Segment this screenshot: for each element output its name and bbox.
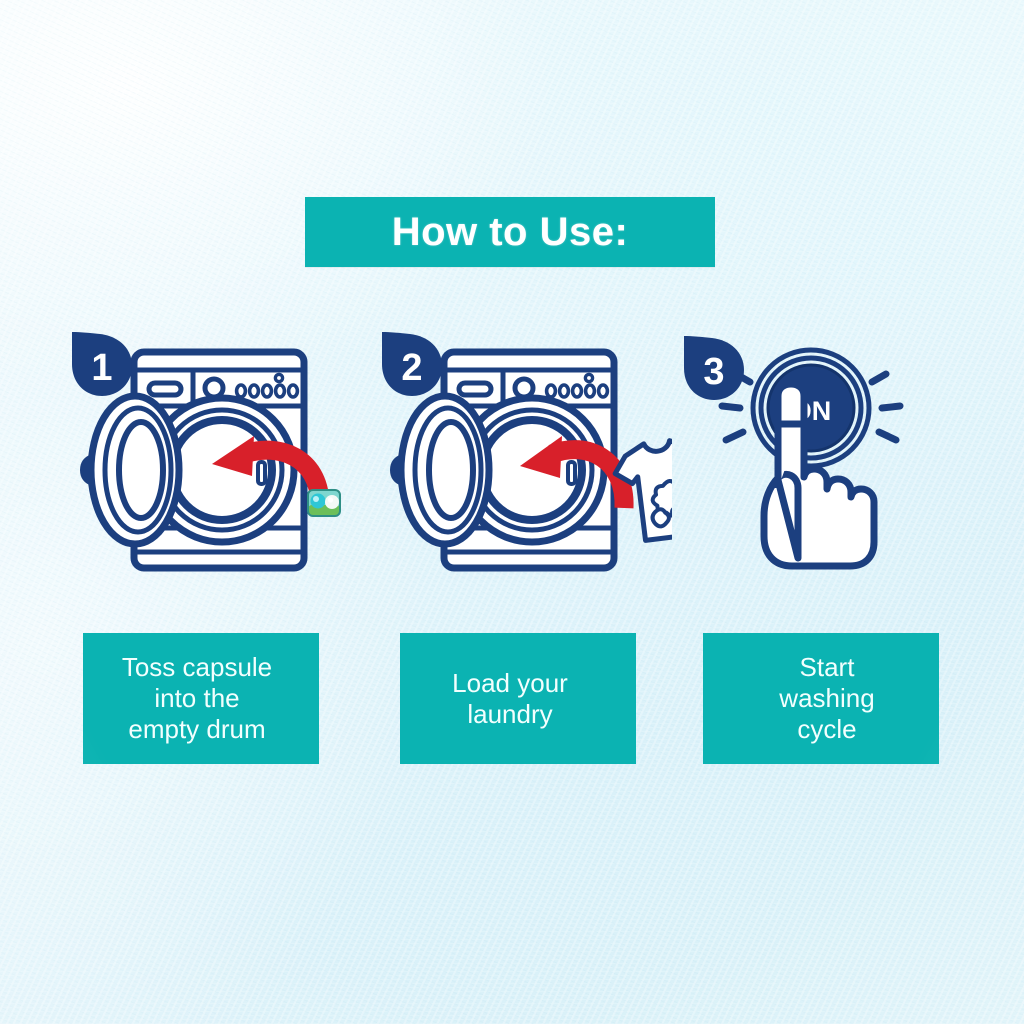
step-3-caption-box: Start washing cycle [703,633,939,764]
step-2-illustration: 2 [372,330,672,590]
step-3-caption-text: Start washing cycle [779,652,874,744]
step-2-number: 2 [401,347,422,389]
step-3-number: 3 [703,351,724,393]
step-2-caption-text: Load your laundry [452,668,568,729]
step-2-caption-box: Load your laundry [400,633,636,764]
step-1-illustration: 1 [62,330,362,590]
step-1-caption-text: Toss capsule into the empty drum [122,652,272,744]
detergent-capsule-icon [308,490,340,516]
step-3-illustration: ON 3 [680,330,950,590]
step-1-number-badge: 1 [72,332,132,396]
step-1-number: 1 [91,347,112,389]
page-title-banner: How to Use: [305,197,715,267]
step-1-caption-box: Toss capsule into the empty drum [83,633,319,764]
page-title: How to Use: [392,212,629,252]
infographic-canvas: How to Use: [0,0,1024,1024]
step-3-number-badge: 3 [684,336,744,400]
step-2-number-badge: 2 [382,332,442,396]
power-button-icon: ON [753,350,869,466]
